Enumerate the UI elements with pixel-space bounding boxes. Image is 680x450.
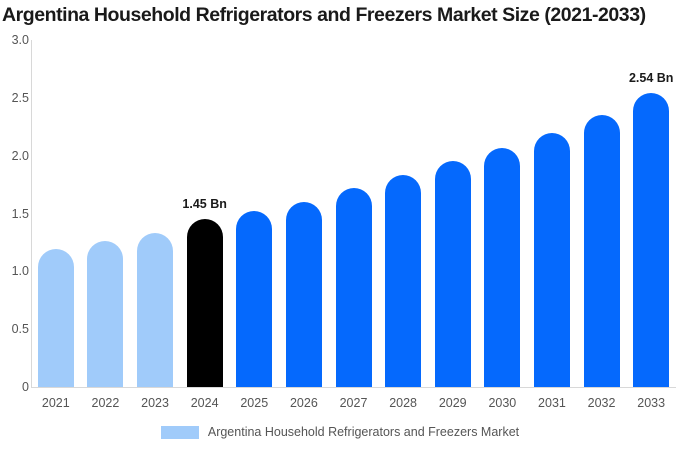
x-axis-tick: 2027 — [329, 396, 379, 410]
bar[interactable] — [584, 115, 620, 387]
chart-title: Argentina Household Refrigerators and Fr… — [2, 2, 680, 28]
y-axis-tick: 2.0 — [3, 149, 29, 163]
x-axis-tick: 2028 — [378, 396, 428, 410]
x-axis-tick: 2022 — [80, 396, 130, 410]
legend-swatch-icon — [161, 426, 199, 439]
bar[interactable] — [435, 161, 471, 387]
bar[interactable] — [336, 188, 372, 387]
bar[interactable] — [534, 133, 570, 387]
x-axis-tick: 2032 — [577, 396, 627, 410]
x-axis-tick: 2021 — [31, 396, 81, 410]
y-axis-tick: 1.5 — [3, 207, 29, 221]
bar[interactable] — [137, 233, 173, 387]
x-axis-tick: 2024 — [180, 396, 230, 410]
bar[interactable] — [236, 211, 272, 387]
y-axis-tick-labels: 00.51.01.52.02.53.0 — [0, 0, 29, 450]
bar-value-label: 1.45 Bn — [182, 197, 226, 211]
y-axis-tick: 3.0 — [3, 33, 29, 47]
bar-value-label: 2.54 Bn — [629, 71, 673, 85]
x-axis-tick: 2033 — [626, 396, 676, 410]
x-axis-tick: 2026 — [279, 396, 329, 410]
chart-legend: Argentina Household Refrigerators and Fr… — [0, 425, 680, 439]
x-axis-tick: 2031 — [527, 396, 577, 410]
x-axis-tick-labels: 2021202220232024202520262027202820292030… — [31, 396, 676, 416]
x-axis-tick: 2023 — [130, 396, 180, 410]
chart-container: Argentina Household Refrigerators and Fr… — [0, 0, 680, 450]
y-axis-tick: 0 — [3, 380, 29, 394]
y-axis-tick: 2.5 — [3, 91, 29, 105]
x-axis-tick: 2025 — [229, 396, 279, 410]
x-axis-line — [31, 387, 676, 388]
bars-layer — [31, 40, 676, 387]
bar[interactable] — [38, 249, 74, 387]
legend-item[interactable]: Argentina Household Refrigerators and Fr… — [161, 425, 519, 439]
x-axis-tick: 2030 — [477, 396, 527, 410]
bar[interactable] — [187, 219, 223, 387]
bar[interactable] — [633, 93, 669, 387]
bar[interactable] — [385, 175, 421, 387]
y-axis-tick: 1.0 — [3, 264, 29, 278]
x-axis-tick: 2029 — [428, 396, 478, 410]
legend-label: Argentina Household Refrigerators and Fr… — [208, 425, 519, 439]
y-axis-tick: 0.5 — [3, 322, 29, 336]
bar[interactable] — [87, 241, 123, 387]
bar[interactable] — [484, 148, 520, 387]
bar[interactable] — [286, 202, 322, 387]
